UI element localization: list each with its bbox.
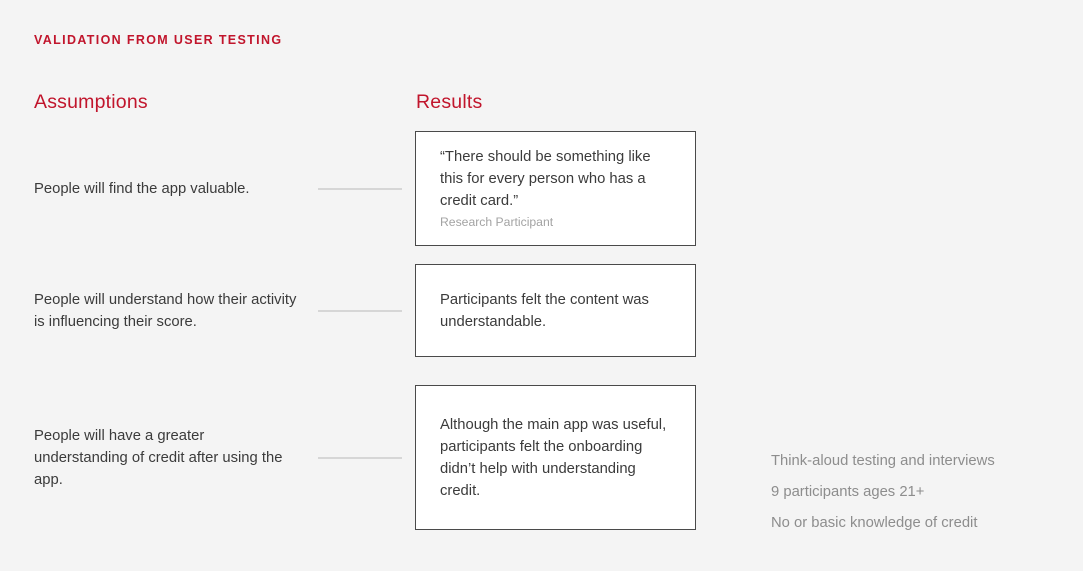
column-heading-assumptions: Assumptions <box>34 91 148 114</box>
validation-row: People will understand how their activit… <box>0 264 1083 357</box>
result-text: Participants felt the content was unders… <box>440 289 671 333</box>
methodology-note: Think-aloud testing and interviews <box>771 446 995 477</box>
result-card: Although the main app was useful, partic… <box>415 385 696 530</box>
column-heading-results: Results <box>416 91 482 114</box>
section-eyebrow-label: Validation from user testing <box>34 33 282 47</box>
result-card: Participants felt the content was unders… <box>415 264 696 357</box>
methodology-note: 9 participants ages 21+ <box>771 477 995 508</box>
assumption-text: People will have a greater understanding… <box>34 425 302 491</box>
result-text: “There should be something like this for… <box>440 146 671 212</box>
connector-line <box>318 457 402 458</box>
assumption-text: People will understand how their activit… <box>34 289 302 333</box>
assumption-text: People will find the app valuable. <box>34 178 302 200</box>
result-attribution: Research Participant <box>440 213 671 231</box>
result-text: Although the main app was useful, partic… <box>440 414 671 502</box>
connector-line <box>318 310 402 311</box>
methodology-notes: Think-aloud testing and interviews 9 par… <box>771 446 995 539</box>
validation-row: People will find the app valuable. “Ther… <box>0 131 1083 246</box>
slide-canvas: Validation from user testing Assumptions… <box>0 0 1083 571</box>
connector-line <box>318 188 402 189</box>
result-card: “There should be something like this for… <box>415 131 696 246</box>
methodology-note: No or basic knowledge of credit <box>771 508 995 539</box>
